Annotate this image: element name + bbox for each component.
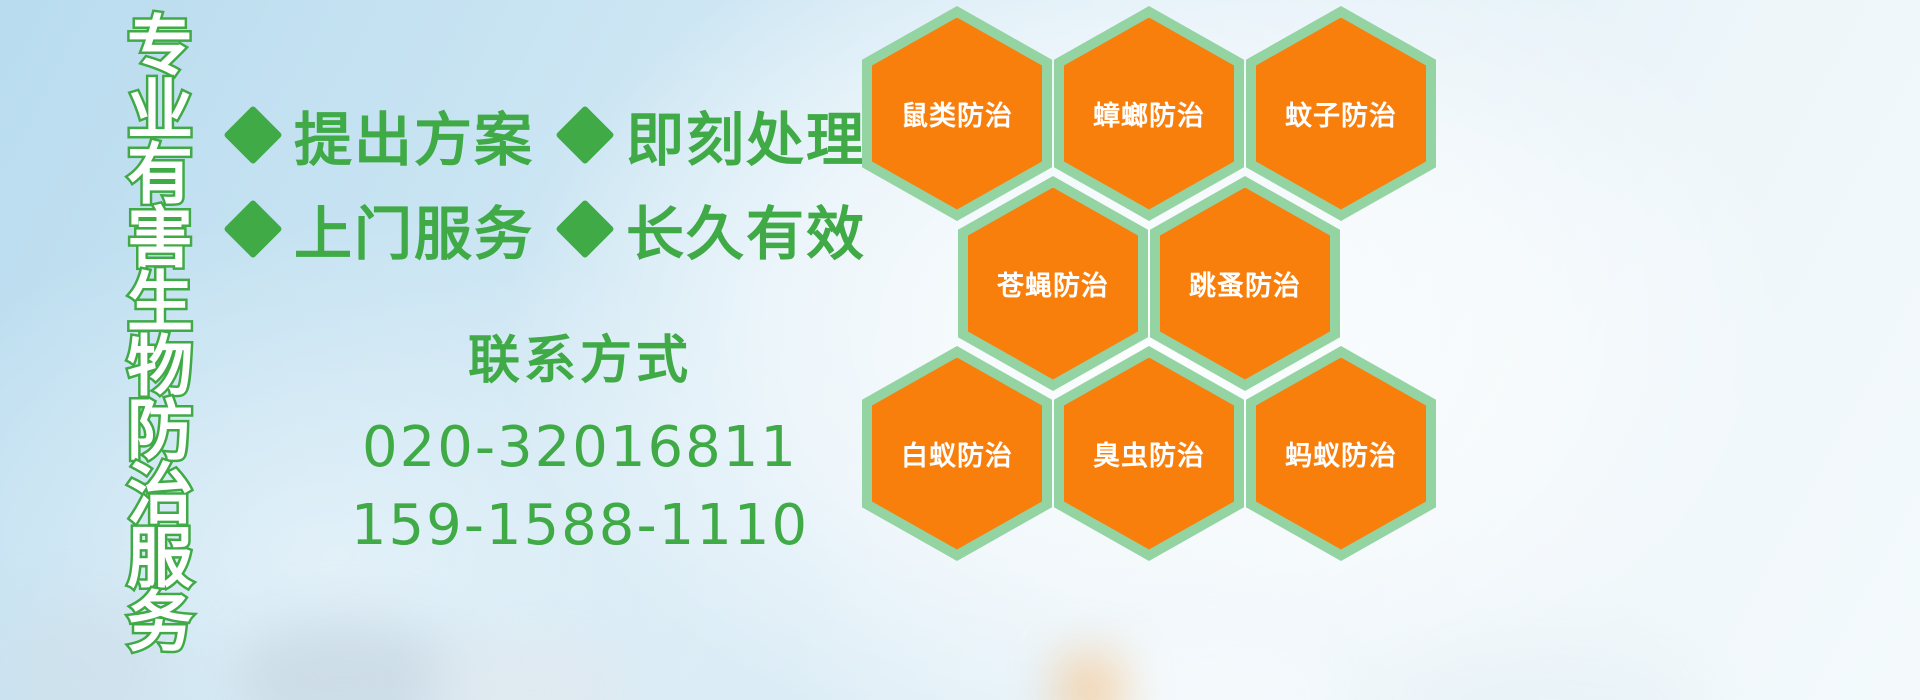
phone-number[interactable]: 020-32016811 (300, 409, 860, 487)
diamond-icon (223, 105, 282, 164)
headline-char: 治 (127, 462, 193, 528)
service-hex-bedbug[interactable]: 臭虫防治 (1054, 346, 1244, 561)
background-blur-blob (1080, 630, 1340, 700)
feature-label: 提出方案 (294, 93, 534, 177)
service-label: 蚊子防治 (1285, 94, 1397, 133)
feature-label: 长久有效 (626, 187, 866, 271)
service-label: 鼠类防治 (901, 94, 1013, 133)
pest-control-banner: 专 业 有 害 生 物 防 治 服 务 提出方案 即刻处理 上门服务 (0, 0, 1920, 700)
service-label: 蟑螂防治 (1093, 94, 1205, 133)
phone-number[interactable]: 159-1588-1110 (300, 487, 860, 565)
hex-inner: 苍蝇防治 (968, 188, 1138, 380)
feature-item: 提出方案 (232, 93, 534, 177)
contact-label: 联系方式 (300, 318, 860, 393)
service-label: 白蚁防治 (901, 434, 1013, 473)
service-label: 蚂蚁防治 (1285, 434, 1397, 473)
service-label: 臭虫防治 (1093, 434, 1205, 473)
service-label: 跳蚤防治 (1189, 264, 1301, 303)
diamond-icon (555, 199, 614, 258)
feature-item: 即刻处理 (564, 93, 866, 177)
contact-block: 联系方式 020-32016811 159-1588-1110 (300, 318, 860, 565)
hex-inner: 跳蚤防治 (1160, 188, 1330, 380)
hex-inner: 蚊子防治 (1256, 18, 1426, 210)
background-blur-blob (1400, 645, 1700, 700)
feature-item: 长久有效 (564, 187, 866, 271)
service-hex-fly[interactable]: 苍蝇防治 (958, 176, 1148, 391)
service-hex-ant[interactable]: 蚂蚁防治 (1246, 346, 1436, 561)
headline-char: 业 (127, 78, 193, 144)
hex-inner: 鼠类防治 (872, 18, 1042, 210)
service-label: 苍蝇防治 (997, 264, 1109, 303)
feature-item: 上门服务 (232, 187, 534, 271)
feature-list: 提出方案 即刻处理 上门服务 长久有效 (232, 88, 872, 276)
service-hex-flea[interactable]: 跳蚤防治 (1150, 176, 1340, 391)
vertical-headline: 专 业 有 害 生 物 防 治 服 务 (108, 14, 212, 574)
headline-char: 务 (127, 590, 193, 656)
headline-char: 物 (127, 334, 193, 400)
service-hex-rodent[interactable]: 鼠类防治 (862, 6, 1052, 221)
headline-char: 有 (127, 142, 193, 208)
feature-row: 提出方案 即刻处理 (232, 88, 872, 182)
headline-char: 生 (127, 270, 193, 336)
hex-inner: 蟑螂防治 (1064, 18, 1234, 210)
background-blur-blob (1060, 655, 1120, 700)
service-honeycomb: 鼠类防治 蟑螂防治 蚊子防治 苍蝇防治 跳蚤防治 白蚁防治 (862, 0, 1462, 578)
diamond-icon (223, 199, 282, 258)
hex-inner: 白蚁防治 (872, 358, 1042, 550)
diamond-icon (555, 105, 614, 164)
hex-inner: 臭虫防治 (1064, 358, 1234, 550)
hex-inner: 蚂蚁防治 (1256, 358, 1426, 550)
background-blur-blob (430, 640, 630, 700)
headline-char: 害 (127, 206, 193, 272)
service-hex-cockroach[interactable]: 蟑螂防治 (1054, 6, 1244, 221)
feature-row: 上门服务 长久有效 (232, 182, 872, 276)
service-hex-mosquito[interactable]: 蚊子防治 (1246, 6, 1436, 221)
background-blur-blob (230, 620, 460, 700)
headline-char: 防 (127, 398, 193, 464)
service-hex-termite[interactable]: 白蚁防治 (862, 346, 1052, 561)
headline-char: 专 (127, 14, 193, 80)
feature-label: 即刻处理 (626, 93, 866, 177)
feature-label: 上门服务 (294, 187, 534, 271)
headline-char: 服 (127, 526, 193, 592)
